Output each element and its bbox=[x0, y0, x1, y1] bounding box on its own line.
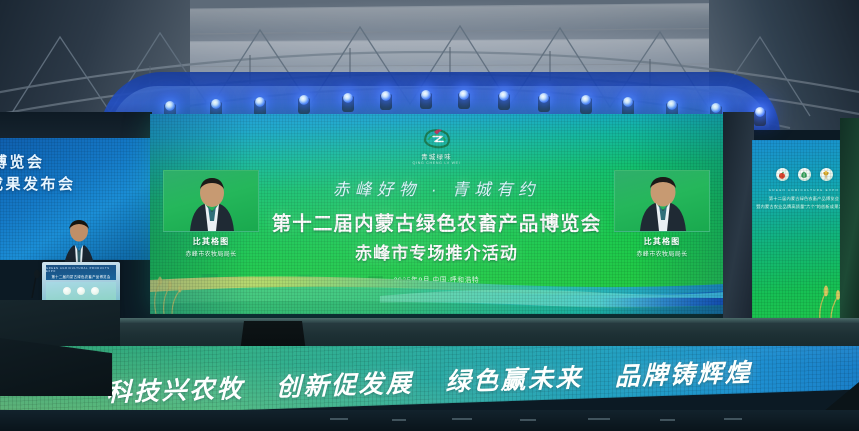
apple-logo-icon bbox=[776, 168, 789, 181]
right-english-strip: GREEN AGRICULTURE EXPO bbox=[756, 188, 852, 192]
floor-strip bbox=[0, 410, 859, 431]
banner-phrase-1: 科技兴农牧 bbox=[107, 375, 245, 407]
stage-pillar bbox=[723, 112, 754, 318]
podium-header-zh: 第十二届内蒙古绿色农畜产品博览会 bbox=[51, 274, 110, 279]
brand-name-zh: 青城绿味 bbox=[406, 151, 468, 161]
right-line2: 暨内蒙古农业品牌高质量"六个"的创新成果发布会 bbox=[756, 204, 852, 210]
leaf-logo-icon bbox=[798, 168, 811, 181]
speaker-portrait bbox=[615, 173, 710, 231]
side-screen-right-text: GREEN AGRICULTURE EXPO 第十二届内蒙古绿色农畜产品博览会 … bbox=[756, 188, 852, 210]
apple-logo-icon bbox=[63, 287, 71, 295]
podium-header-banner: GREEN AGRICULTURAL PRODUCTS EXPO 第十二届内蒙古… bbox=[46, 265, 116, 280]
right-line1: 第十二届内蒙古绿色农畜产品博览会 bbox=[756, 196, 852, 202]
wall-shadow-left bbox=[0, 112, 152, 140]
qingcheng-emblem-icon bbox=[422, 126, 452, 150]
side-left-line2: 成果发布会 bbox=[0, 174, 76, 196]
speaker-video-feed bbox=[163, 170, 259, 232]
stage-deck-edge bbox=[0, 318, 859, 323]
podium-badge-row bbox=[46, 287, 116, 295]
grassland-landscape-artwork bbox=[150, 262, 723, 314]
banner-phrase-4: 品牌铸辉煌 bbox=[615, 359, 753, 391]
speaker-title: 赤峰市农牧局局长 bbox=[163, 249, 259, 258]
speaker-name: 比其格图 bbox=[163, 236, 259, 247]
speaker-video-feed bbox=[614, 170, 710, 232]
side-screen-left-text: 博览会 成果发布会 bbox=[0, 152, 76, 196]
wheat-logo-icon bbox=[820, 168, 833, 181]
brand-name-sub: QING CHENG LV WEI bbox=[406, 161, 468, 165]
wheat-logo-icon bbox=[91, 287, 99, 295]
speaker-name: 比其格图 bbox=[614, 236, 710, 247]
speaker-portrait bbox=[164, 173, 259, 231]
stage-pillar-far-right bbox=[840, 118, 859, 330]
side-left-line1: 博览会 bbox=[0, 152, 76, 174]
speaker-title: 赤峰市农牧局局长 bbox=[614, 249, 710, 258]
podium-header-en: GREEN AGRICULTURAL PRODUCTS EXPO bbox=[46, 267, 116, 273]
event-brand-logo: 青城绿味 QING CHENG LV WEI bbox=[406, 126, 468, 165]
stage-scene: 博览会 成果发布会 青城绿味 QING CHENG LV WEI 赤峰好物 · … bbox=[0, 0, 859, 431]
speaker-feed-panel-right: 比其格图 赤峰市农牧局局长 bbox=[614, 170, 710, 258]
leaf-logo-icon bbox=[77, 287, 85, 295]
banner-phrase-3: 绿色赢未来 bbox=[445, 364, 583, 396]
bottom-led-banner: 科技兴农牧 创新促发展 绿色赢未来 品牌铸辉煌 bbox=[0, 346, 859, 418]
main-led-screen: 青城绿味 QING CHENG LV WEI 赤峰好物 · 青城有约 第十二届内… bbox=[150, 114, 723, 314]
speaker-feed-panel-left: 比其格图 赤峰市农牧局局长 bbox=[163, 170, 259, 258]
banner-phrase-2: 创新促发展 bbox=[276, 370, 414, 402]
